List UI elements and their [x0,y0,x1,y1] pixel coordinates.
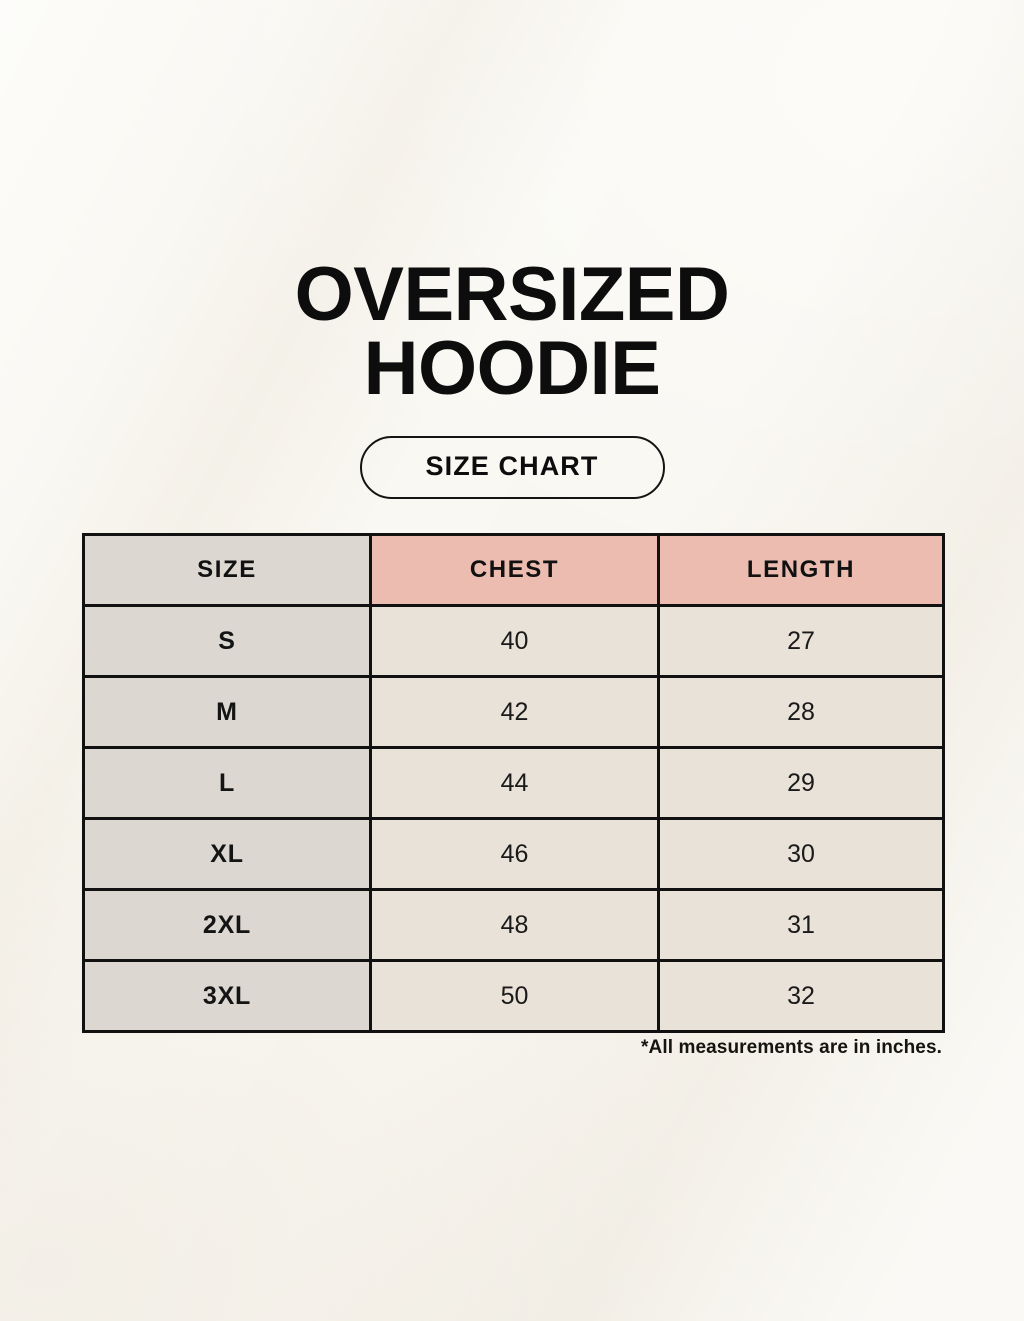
cell-size: S [84,606,371,677]
cell-size: 2XL [84,890,371,961]
cell-length: 29 [659,748,944,819]
column-header-length: LENGTH [659,535,944,606]
cell-length: 28 [659,677,944,748]
table-row: XL 46 30 [84,819,944,890]
cell-length: 30 [659,819,944,890]
cell-size: M [84,677,371,748]
cell-chest: 46 [371,819,659,890]
cell-chest: 50 [371,961,659,1032]
cell-size: 3XL [84,961,371,1032]
cell-chest: 44 [371,748,659,819]
size-chart-badge: SIZE CHART [360,436,665,499]
cell-length: 31 [659,890,944,961]
table-row: M 42 28 [84,677,944,748]
table-row: S 40 27 [84,606,944,677]
cell-size: XL [84,819,371,890]
size-table-container: SIZE CHEST LENGTH S 40 27 M 42 28 L [82,533,942,1033]
cell-length: 32 [659,961,944,1032]
cell-size: L [84,748,371,819]
table-row: L 44 29 [84,748,944,819]
column-header-chest: CHEST [371,535,659,606]
cell-chest: 42 [371,677,659,748]
cell-chest: 40 [371,606,659,677]
size-chart-page: OVERSIZED HOODIE SIZE CHART SIZE CHEST L… [0,0,1024,1321]
cell-length: 27 [659,606,944,677]
badge-container: SIZE CHART [0,436,1024,499]
table-header-row: SIZE CHEST LENGTH [84,535,944,606]
column-header-size: SIZE [84,535,371,606]
table-row: 3XL 50 32 [84,961,944,1032]
measurement-footnote: *All measurements are in inches. [82,1037,942,1059]
page-title: OVERSIZED HOODIE [0,258,1024,407]
size-chart-table: SIZE CHEST LENGTH S 40 27 M 42 28 L [82,533,945,1033]
cell-chest: 48 [371,890,659,961]
table-row: 2XL 48 31 [84,890,944,961]
